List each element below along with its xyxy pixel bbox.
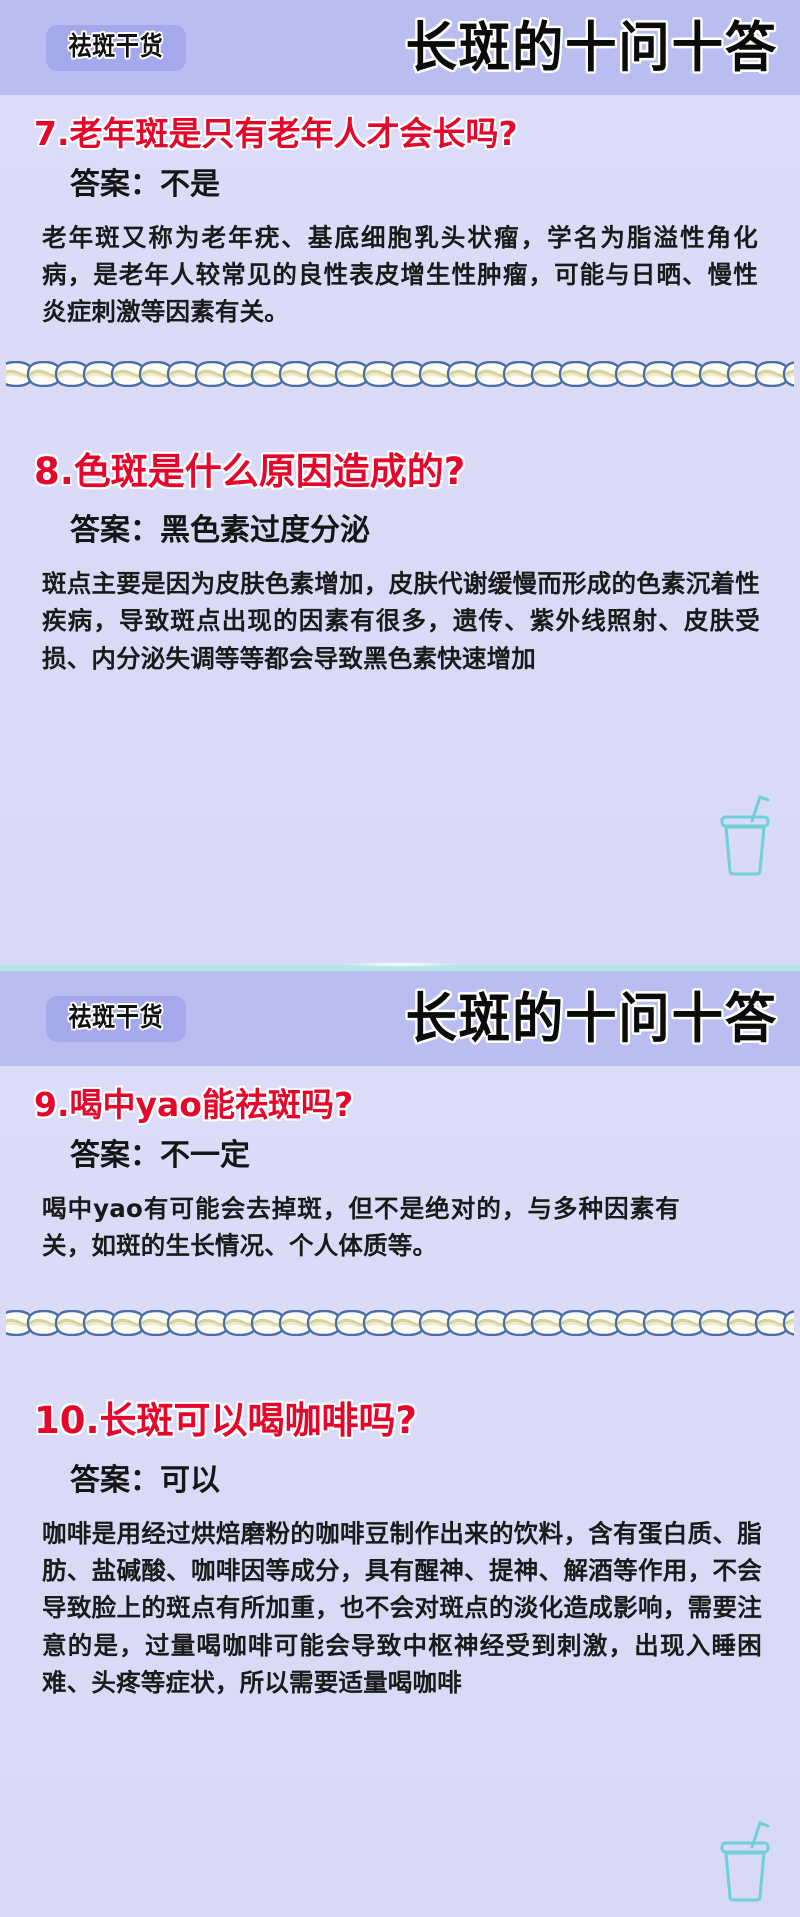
badge-label-2: 祛斑干货 — [68, 1005, 163, 1031]
qa-item-9: 9.喝中yao能祛斑吗? 答案：不一定 喝中yao有可能会去掉斑，但不是绝对的，… — [0, 1086, 800, 1264]
panel-1-header: 祛斑干货 长斑的十问十答 — [0, 0, 800, 95]
spacer — [34, 1124, 770, 1138]
qa-item-10: 10.长斑可以喝咖啡吗? 答案：可以 咖啡是用经过烘焙磨粉的咖啡豆制作出来的饮料… — [0, 1400, 800, 1701]
question-7-title: 7.老年斑是只有老年人才会长吗? — [34, 115, 770, 153]
infographic-page: 祛斑干货 长斑的十问十答 7.老年斑是只有老年人才会长吗? 答案：不是 老年斑又… — [0, 0, 800, 1917]
question-7-answer: 答案：不是 — [70, 167, 770, 203]
spacer — [0, 1336, 800, 1400]
badge-label: 祛斑干货 — [68, 34, 163, 60]
rope-divider-icon — [6, 1310, 794, 1336]
question-10-answer: 答案：可以 — [70, 1463, 770, 1499]
rope-divider-2-wrap — [0, 1310, 800, 1336]
question-10-title: 10.长斑可以喝咖啡吗? — [34, 1400, 770, 1443]
panel-1: 祛斑干货 长斑的十问十答 7.老年斑是只有老年人才会长吗? 答案：不是 老年斑又… — [0, 0, 800, 965]
panel-2-title: 长斑的十问十答 — [216, 992, 778, 1046]
question-9-title: 9.喝中yao能祛斑吗? — [34, 1086, 770, 1124]
spacer — [0, 95, 800, 115]
question-9-body: 喝中yao有可能会去掉斑，但不是绝对的，与多种因素有关，如斑的生长情况、个人体质… — [34, 1190, 770, 1264]
question-7-body: 老年斑又称为老年疣、基底细胞乳头状瘤，学名为脂溢性角化病，是老年人较常见的良性表… — [34, 219, 770, 331]
spacer — [34, 549, 770, 565]
badge-qubangganhuo-2: 祛斑干货 — [46, 996, 186, 1042]
drink-cup-icon — [716, 791, 774, 877]
rope-divider-1-wrap — [0, 361, 800, 387]
spacer — [34, 1499, 770, 1515]
spacer — [34, 493, 770, 513]
spacer — [34, 203, 770, 219]
rope-divider-icon — [6, 361, 794, 387]
spacer — [0, 1066, 800, 1086]
panel-1-title: 长斑的十问十答 — [216, 21, 778, 75]
spacer — [0, 331, 800, 361]
panel-2-header: 祛斑干货 长斑的十问十答 — [0, 971, 800, 1066]
spacer — [0, 387, 800, 451]
panel-2: 祛斑干货 长斑的十问十答 9.喝中yao能祛斑吗? 答案：不一定 喝中yao有可… — [0, 971, 800, 1917]
question-8-answer: 答案：黑色素过度分泌 — [70, 513, 770, 549]
question-8-body: 斑点主要是因为皮肤色素增加，皮肤代谢缓慢而形成的色素沉着性疾病，导致斑点出现的因… — [34, 565, 770, 677]
question-10-body: 咖啡是用经过烘焙磨粉的咖啡豆制作出来的饮料，含有蛋白质、脂肪、盐碱酸、咖啡因等成… — [34, 1515, 770, 1701]
spacer — [0, 1264, 800, 1310]
question-9-answer: 答案：不一定 — [70, 1138, 770, 1174]
spacer — [34, 1443, 770, 1463]
qa-item-8: 8.色斑是什么原因造成的? 答案：黑色素过度分泌 斑点主要是因为皮肤色素增加，皮… — [0, 451, 800, 677]
spacer — [34, 1174, 770, 1190]
spacer — [34, 153, 770, 167]
badge-qubangganhuo: 祛斑干货 — [46, 25, 186, 71]
drink-cup-icon — [716, 1817, 774, 1903]
qa-item-7: 7.老年斑是只有老年人才会长吗? 答案：不是 老年斑又称为老年疣、基底细胞乳头状… — [0, 115, 800, 331]
question-8-title: 8.色斑是什么原因造成的? — [34, 451, 770, 494]
